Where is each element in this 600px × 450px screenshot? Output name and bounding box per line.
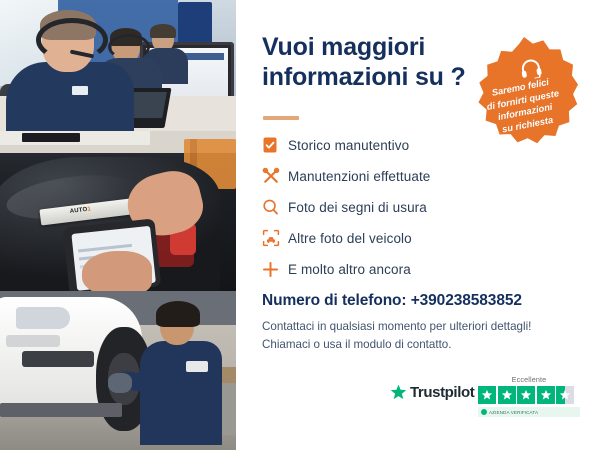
star-icon: [478, 386, 496, 404]
contact-line-2: Chiamaci o usa il modulo di contatto.: [262, 336, 592, 354]
phone-number[interactable]: Numero di telefono: +390238583852: [262, 292, 522, 310]
clipboard: [22, 133, 80, 142]
feature-list: Storico manutentivo Manutenzioni effettu…: [262, 131, 582, 286]
call-center-agents-photo: [0, 0, 236, 131]
promo-banner: AUTO1: [0, 0, 600, 450]
tools-cross-icon: [262, 165, 288, 187]
ruler-brand-label: AUTO1: [70, 206, 92, 215]
agent-3-hair: [150, 24, 176, 38]
star-rating: [478, 386, 580, 404]
agent-1-name-badge: [72, 86, 88, 95]
page-title: Vuoi maggiori informazioni su ?: [262, 33, 477, 93]
feature-item-manutenzioni-effettuate: Manutenzioni effettuate: [262, 162, 582, 190]
inspector-hand-lower: [82, 251, 152, 291]
feature-item-molto-altro: E molto altro ancora: [262, 255, 582, 283]
star-icon-half: [556, 386, 574, 404]
car-lower-grille: [22, 351, 94, 367]
agent-2-headset: [108, 34, 150, 60]
trustpilot-logo: Trustpilot: [390, 384, 474, 401]
vehicle-lift-arm: [0, 403, 122, 417]
feature-label: E molto altro ancora: [288, 262, 411, 277]
feature-label: Foto dei segni di usura: [288, 200, 427, 215]
availability-badge: Saremo felici di fornirti queste informa…: [470, 37, 578, 145]
verified-label: AZIENDA VERIFICATA: [489, 410, 538, 415]
agent-1-body: [6, 62, 134, 131]
magnifier-icon: [262, 196, 288, 218]
star-icon: [537, 386, 555, 404]
mechanic-hair: [156, 301, 200, 327]
mechanic-wheel-service-photo: [0, 291, 236, 450]
feature-label: Storico manutentivo: [288, 138, 409, 153]
vehicle-inspection-ruler-photo: AUTO1: [0, 131, 236, 291]
star-icon: [498, 386, 516, 404]
photo-strip: AUTO1: [0, 0, 236, 450]
trustpilot-rating: Eccellente AZIEND: [478, 375, 580, 417]
title-accent-bar: [263, 116, 299, 120]
star-icon: [390, 384, 407, 401]
star-icon: [517, 386, 535, 404]
feature-item-foto-segni-usura: Foto dei segni di usura: [262, 193, 582, 221]
feature-label: Manutenzioni effettuate: [288, 169, 430, 184]
mechanic-uniform-patch: [186, 361, 208, 372]
car-headlamp: [16, 307, 70, 329]
plus-icon: [262, 258, 288, 280]
trustpilot-widget[interactable]: Trustpilot Eccellente: [390, 375, 580, 423]
checklist-icon: [262, 134, 288, 156]
verified-company-badge: AZIENDA VERIFICATA: [478, 407, 580, 417]
contact-instructions: Contattaci in qualsiasi momento per ulte…: [262, 318, 592, 354]
car-upper-grille: [6, 335, 60, 347]
agent-1-headset: [36, 18, 108, 62]
feature-label: Altre foto del veicolo: [288, 231, 412, 246]
car-frame-icon: [262, 227, 288, 249]
rating-label: Eccellente: [478, 375, 580, 384]
trustpilot-wordmark: Trustpilot: [410, 384, 474, 401]
mechanic-glove: [108, 373, 132, 393]
feature-item-altre-foto-veicolo: Altre foto del veicolo: [262, 224, 582, 252]
verified-check-icon: [481, 409, 487, 415]
mechanic-body: [140, 341, 222, 445]
contact-line-1: Contattaci in qualsiasi momento per ulte…: [262, 318, 592, 336]
